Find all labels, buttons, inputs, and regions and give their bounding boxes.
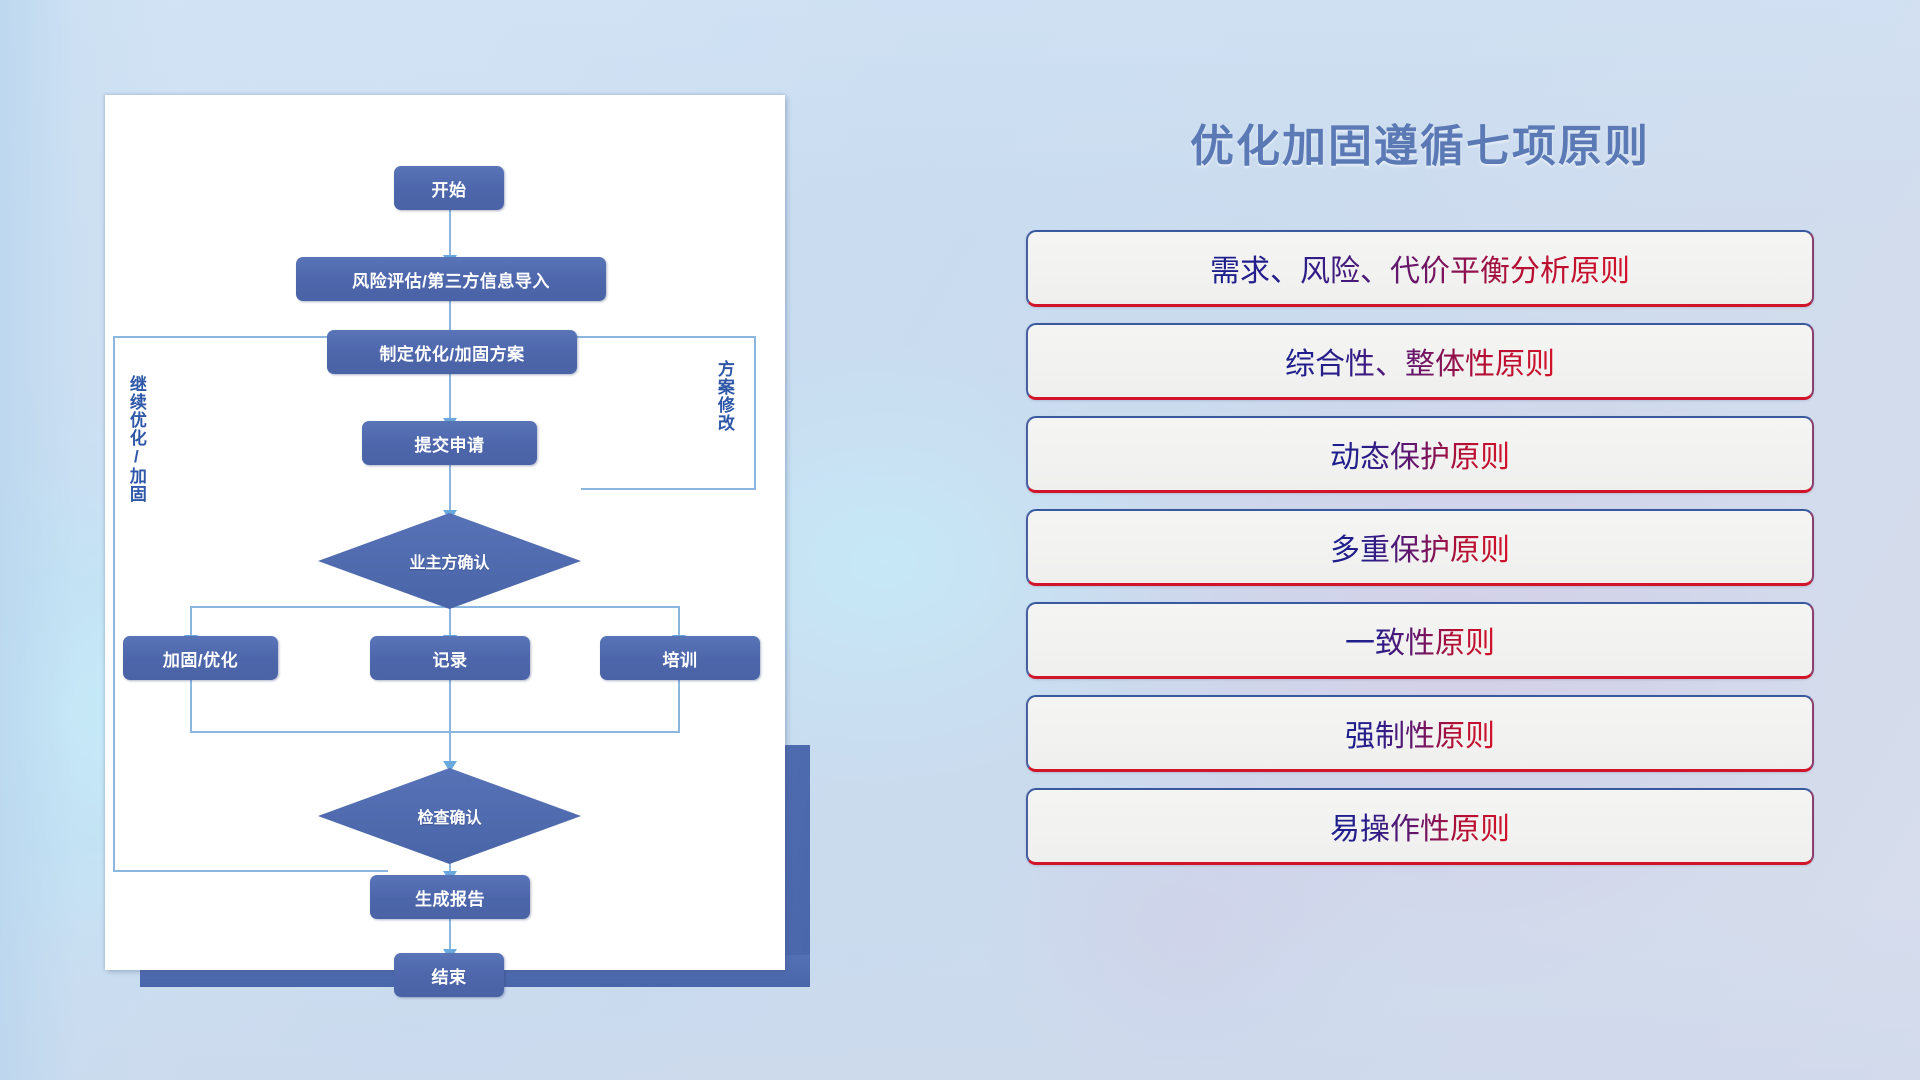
edge-start-to-risk xyxy=(449,209,451,261)
flow-node-risk-assessment-label: 风险评估/第三方信息导入 xyxy=(352,267,550,292)
flow-node-end[interactable]: 结束 xyxy=(394,953,504,997)
principle-item-2-label: 综合性、整体性原则 xyxy=(1285,339,1555,383)
edge-merge-bus xyxy=(190,731,680,733)
principle-item-3-label: 动态保护原则 xyxy=(1330,432,1510,476)
flow-node-reinforce-optimize[interactable]: 加固/优化 xyxy=(123,636,278,680)
edge-plan-to-submit xyxy=(449,373,451,423)
principle-item-3[interactable]: 动态保护原则 xyxy=(1026,416,1814,493)
flow-node-owner-confirm[interactable]: 业主方确认 xyxy=(318,513,581,609)
flow-node-training[interactable]: 培训 xyxy=(600,636,760,680)
principle-item-7-label: 易操作性原则 xyxy=(1330,804,1510,848)
principle-item-5-label: 一致性原则 xyxy=(1345,618,1495,662)
principle-item-5[interactable]: 一致性原则 xyxy=(1026,602,1814,679)
principle-item-6[interactable]: 强制性原则 xyxy=(1026,695,1814,772)
principle-item-2[interactable]: 综合性、整体性原则 xyxy=(1026,323,1814,400)
flowchart-stage: 继续优化/加固 方案修改 开始 xyxy=(105,95,785,970)
edge-left-loop-vertical xyxy=(113,336,115,871)
flow-node-check-confirm-label: 检查确认 xyxy=(318,768,581,864)
flow-node-generate-report-label: 生成报告 xyxy=(415,885,485,910)
flowchart-card: 继续优化/加固 方案修改 开始 xyxy=(105,95,785,970)
edge-label-plan-revision: 方案修改 xyxy=(715,360,733,432)
flow-node-generate-report[interactable]: 生成报告 xyxy=(370,875,530,919)
edge-submit-to-owner xyxy=(449,464,451,515)
flow-node-make-plan[interactable]: 制定优化/加固方案 xyxy=(327,330,577,374)
edge-left-loop-top xyxy=(113,336,363,338)
edge-reinforce-down xyxy=(190,680,192,732)
flow-node-reinforce-optimize-label: 加固/优化 xyxy=(163,646,238,671)
principle-item-6-label: 强制性原则 xyxy=(1345,711,1495,755)
flow-node-end-label: 结束 xyxy=(432,963,467,988)
edge-right-loop-bottom xyxy=(581,488,756,490)
principle-item-4[interactable]: 多重保护原则 xyxy=(1026,509,1814,586)
flow-node-start-label: 开始 xyxy=(432,176,467,201)
principle-item-1-label: 需求、风险、代价平衡分析原则 xyxy=(1210,246,1630,290)
flow-node-owner-confirm-label: 业主方确认 xyxy=(318,513,581,609)
flow-node-submit-application[interactable]: 提交申请 xyxy=(362,421,537,465)
edge-left-loop-bottom xyxy=(113,870,388,872)
flow-node-risk-assessment[interactable]: 风险评估/第三方信息导入 xyxy=(296,257,606,301)
flow-node-record-label: 记录 xyxy=(433,646,468,671)
edge-right-loop-vertical xyxy=(754,336,756,489)
flow-node-record[interactable]: 记录 xyxy=(370,636,530,680)
principles-panel: 优化加固遵循七项原则 需求、风险、代价平衡分析原则 综合性、整体性原则 动态保护… xyxy=(1000,80,1840,1020)
flow-node-training-label: 培训 xyxy=(663,646,698,671)
edge-training-down xyxy=(678,680,680,732)
edge-label-continue-optimize: 继续优化/加固 xyxy=(127,375,145,503)
flow-node-start[interactable]: 开始 xyxy=(394,166,504,210)
flow-node-submit-application-label: 提交申请 xyxy=(415,431,485,456)
flow-node-check-confirm[interactable]: 检查确认 xyxy=(318,768,581,864)
flow-node-make-plan-label: 制定优化/加固方案 xyxy=(379,340,524,365)
edge-record-down xyxy=(449,680,451,766)
principle-list: 需求、风险、代价平衡分析原则 综合性、整体性原则 动态保护原则 多重保护原则 一… xyxy=(1026,230,1814,881)
panel-title: 优化加固遵循七项原则 xyxy=(1000,110,1840,174)
principle-item-7[interactable]: 易操作性原则 xyxy=(1026,788,1814,865)
principle-item-4-label: 多重保护原则 xyxy=(1330,525,1510,569)
principle-item-1[interactable]: 需求、风险、代价平衡分析原则 xyxy=(1026,230,1814,307)
